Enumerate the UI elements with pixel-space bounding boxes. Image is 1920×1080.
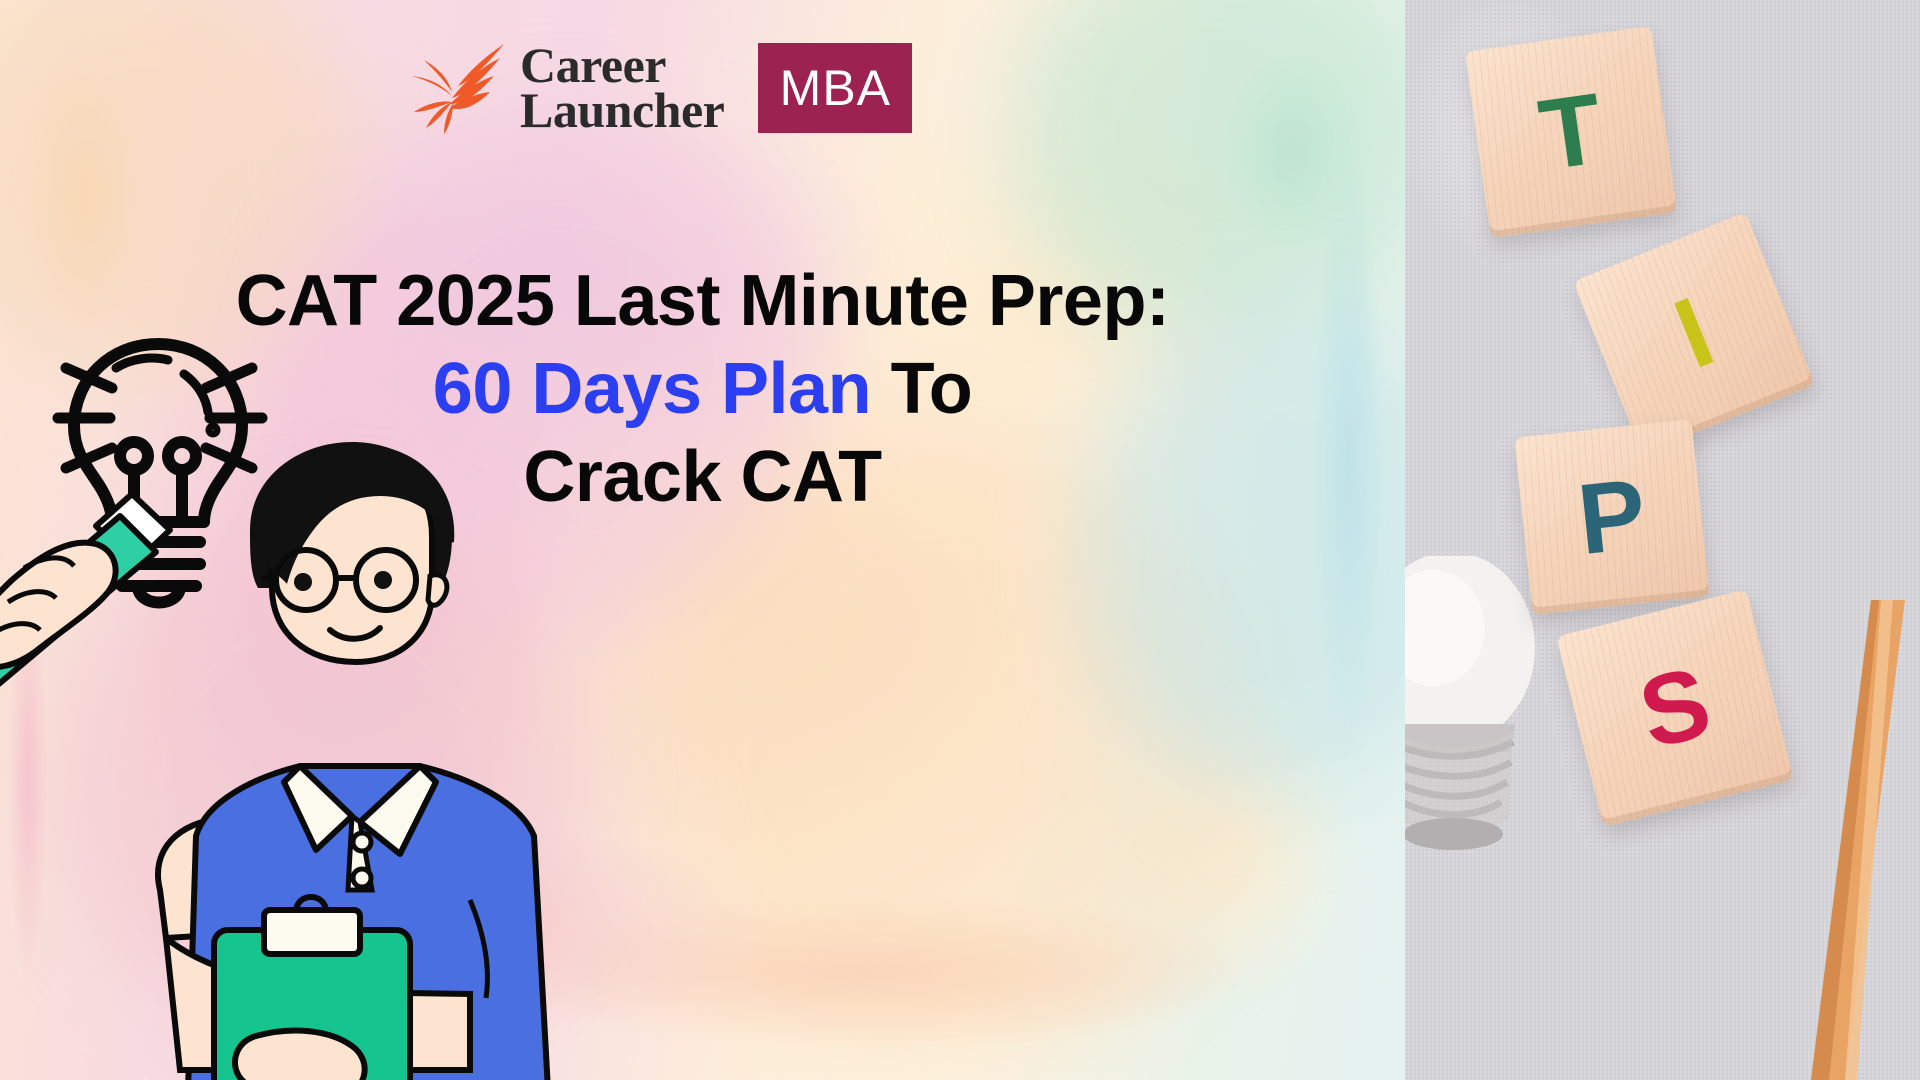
- eye-right: [374, 571, 392, 589]
- mba-badge[interactable]: MBA: [758, 43, 912, 133]
- logo-wordmark: Career Launcher: [520, 43, 724, 133]
- career-launcher-logo[interactable]: Career Launcher MBA: [408, 42, 912, 134]
- wooden-block-t: T: [1465, 26, 1677, 238]
- button-top: [353, 833, 371, 851]
- wooden-block-p: P: [1514, 419, 1710, 615]
- student-with-idea-illustration: [0, 330, 560, 1080]
- student-figure: [158, 442, 548, 1080]
- eye-left: [294, 573, 312, 591]
- block-letter-i: I: [1660, 274, 1729, 391]
- pencil-photo-object: [1809, 600, 1920, 1080]
- tips-wooden-blocks-photo: T I P S: [1405, 0, 1920, 1080]
- logo-word-launcher: Launcher: [520, 88, 724, 133]
- career-launcher-swirl-mark: [408, 42, 508, 134]
- block-letter-t: T: [1533, 71, 1610, 193]
- cat-2025-promo-banner: Career Launcher MBA CAT 2025 Last Minute…: [0, 0, 1920, 1080]
- headline-line-2-rest: To: [871, 349, 972, 429]
- button-bottom: [353, 869, 371, 887]
- block-letter-s: S: [1629, 644, 1722, 772]
- block-letter-p: P: [1573, 456, 1651, 577]
